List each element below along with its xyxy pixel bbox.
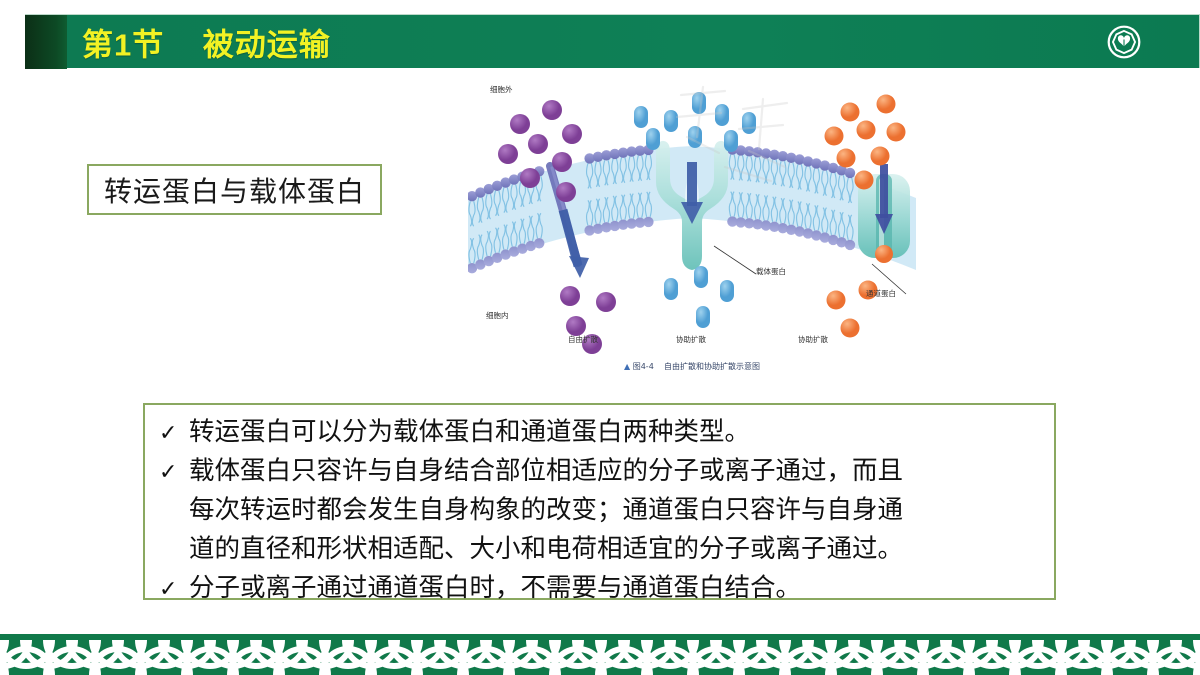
bullet-line: ✓载体蛋白只容许与自身结合部位相适应的分子或离子通过，而且 [159,452,1044,491]
caption-number: 图4-4 [633,362,654,371]
blue-molecules-inside [664,266,734,328]
emblem-logo-icon [1107,25,1141,59]
bullet-text: 转运蛋白可以分为载体蛋白和通道蛋白两种类型。 [189,413,1044,450]
figure-label-carrier-protein: 载体蛋白 [756,266,786,277]
bullet-text: 每次转运时都会发生自身构象的改变；通道蛋白只容许与自身通 [189,491,1044,528]
figure-label-free-diffusion: 自由扩散 [568,334,598,345]
bullet-line: ✓分子或离子通过通道蛋白时，不需要与通道蛋白结合。 [159,569,1044,608]
header-accent-block [25,15,67,69]
bullet-content-box: ✓转运蛋白可以分为载体蛋白和通道蛋白两种类型。✓载体蛋白只容许与自身结合部位相适… [143,403,1056,600]
cell-membrane-diagram: 细胞外 细胞内 载体蛋白 通道蛋白 自由扩散 协助扩散 协助扩散 ▲ 图4-4 … [468,78,916,378]
figure-label-facilitated-diffusion-2: 协助扩散 [798,334,828,345]
figure-label-inside: 细胞内 [486,310,509,321]
caption-text: 自由扩散和协助扩散示意图 [664,362,760,371]
subtitle-callout-box: 转运蛋白与载体蛋白 [87,164,382,215]
footer-arc-pattern [0,634,1200,675]
bullet-line: 每次转运时都会发生自身构象的改变；通道蛋白只容许与自身通 [159,491,1044,530]
figure-label-channel-protein: 通道蛋白 [866,288,896,299]
blue-molecules-outside [634,92,756,152]
bullet-indent-spacer [159,493,189,530]
slide-header-bar: 第1节 被动运输 [25,14,1200,68]
bullet-list: ✓转运蛋白可以分为载体蛋白和通道蛋白两种类型。✓载体蛋白只容许与自身结合部位相适… [159,413,1044,608]
caption-triangle-icon: ▲ [624,362,630,371]
page-title: 第1节 被动运输 [82,19,331,64]
figure-label-facilitated-diffusion-1: 协助扩散 [676,334,706,345]
bullet-text: 载体蛋白只容许与自身结合部位相适应的分子或离子通过，而且 [189,452,1044,489]
checkmark-icon: ✓ [159,454,189,491]
bullet-line: 道的直径和形状相适配、大小和电荷相适宜的分子或离子通过。 [159,530,1044,569]
subtitle-text: 转运蛋白与载体蛋白 [104,170,365,210]
checkmark-icon: ✓ [159,571,189,608]
bullet-text: 分子或离子通过通道蛋白时，不需要与通道蛋白结合。 [189,569,1044,606]
figure-label-outside: 细胞外 [490,84,513,95]
bullet-line: ✓转运蛋白可以分为载体蛋白和通道蛋白两种类型。 [159,413,1044,452]
figure-caption: ▲ 图4-4 自由扩散和协助扩散示意图 [468,361,916,372]
footer-decorative-band [0,634,1200,675]
bullet-text: 道的直径和形状相适配、大小和电荷相适宜的分子或离子通过。 [189,530,1044,567]
membrane-illustration [468,78,916,363]
bullet-indent-spacer [159,532,189,569]
checkmark-icon: ✓ [159,415,189,452]
